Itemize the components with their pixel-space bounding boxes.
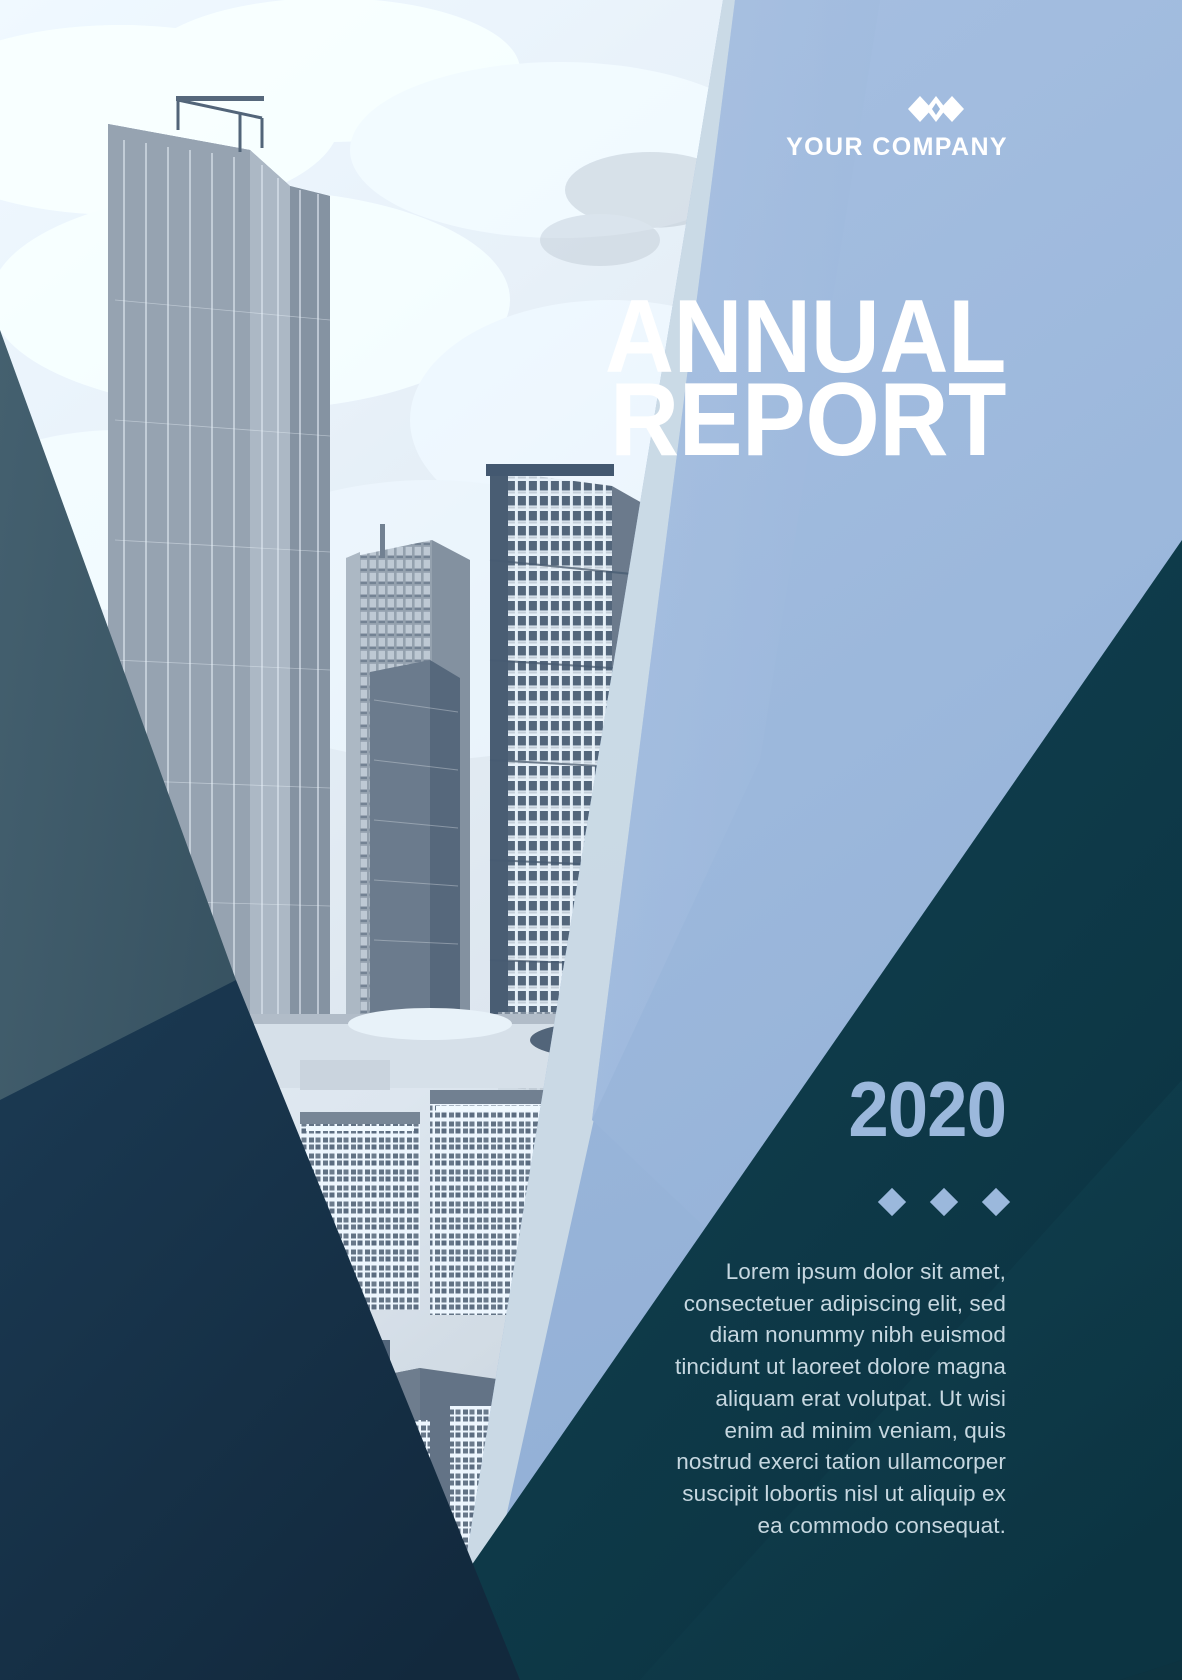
diamond-ornament-row <box>882 1192 1006 1212</box>
double-diamond-logo-icon <box>908 92 964 126</box>
brand-name: YOUR COMPANY <box>746 135 1008 160</box>
title-line-report: REPORT <box>528 379 1006 462</box>
cover-text-layer: YOUR COMPANY ANNUAL REPORT 2020 Lorem ip… <box>0 0 1182 1680</box>
cover-body-copy: Lorem ipsum dolor sit amet, consectetuer… <box>666 1256 1006 1541</box>
page-title: ANNUAL REPORT <box>486 296 1006 462</box>
annual-report-cover: YOUR COMPANY ANNUAL REPORT 2020 Lorem ip… <box>0 0 1182 1680</box>
diamond-bullet-icon <box>930 1188 958 1216</box>
report-year: 2020 <box>586 1074 1006 1144</box>
body-paragraph: Lorem ipsum dolor sit amet, consectetuer… <box>666 1256 1006 1541</box>
diamond-bullet-icon <box>878 1188 906 1216</box>
year-value: 2020 <box>615 1074 1006 1144</box>
diamond-bullet-icon <box>982 1188 1010 1216</box>
brand-block: YOUR COMPANY <box>746 92 1006 160</box>
